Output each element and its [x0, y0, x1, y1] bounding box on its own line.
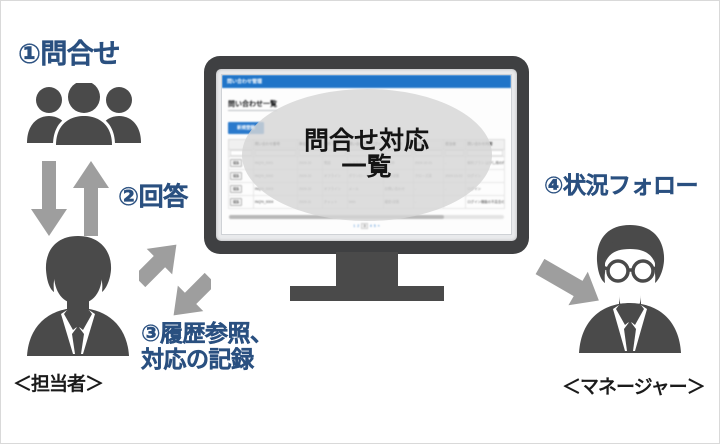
step-label-3: ③履歴参照、 対応の記録	[141, 321, 272, 373]
step-label-1: ①問合せ	[18, 39, 120, 69]
arrow-down-icon	[31, 161, 67, 236]
screen-overlay-ellipse: 問合せ対応 一覧	[242, 89, 492, 221]
monitor-inner-frame: 問い合わせ管理 問い合わせ一覧 新規登録	[216, 69, 517, 241]
step-label-2: ②回答	[118, 183, 188, 211]
monitor-screen: 問い合わせ管理 問い合わせ一覧 新規登録	[221, 74, 512, 235]
app-topbar-title: 問い合わせ管理	[227, 78, 262, 85]
monitor-neck	[336, 252, 398, 289]
row-action-cell[interactable]: 編集	[229, 195, 254, 208]
pagination-next-icon[interactable]: »	[378, 224, 380, 228]
diagram-canvas: ①問合せ ②回答	[0, 0, 720, 444]
arrow-up-icon	[73, 161, 109, 236]
edit-button[interactable]: 編集	[230, 172, 242, 180]
pagination-page[interactable]: 5	[374, 224, 376, 228]
page-title: 問い合わせ一覧	[228, 99, 277, 111]
step-label-4: ④状況フォロー	[544, 173, 698, 199]
row-action-cell[interactable]: 編集	[229, 182, 254, 195]
role-label-manager: ＜マネージャー＞	[562, 372, 705, 399]
edit-button[interactable]: 編集	[230, 185, 242, 193]
arrow-bidirectional-diagonal-icon	[139, 244, 211, 316]
role-staff	[21, 234, 136, 356]
role-manager	[571, 223, 689, 353]
edit-button[interactable]: 編集	[230, 198, 242, 206]
arrow-up	[73, 161, 109, 236]
role-customers	[23, 83, 145, 145]
role-label-staff: ＜担当者＞	[13, 369, 103, 396]
monitor-base	[290, 286, 444, 301]
pagination[interactable]: 1 2 3 4 5 »	[228, 223, 505, 229]
person-suit-icon	[21, 234, 136, 356]
pagination-page[interactable]: 4	[370, 224, 372, 228]
pagination-page[interactable]: 1	[353, 224, 355, 228]
edit-button[interactable]: 編集	[230, 159, 242, 167]
overlay-caption: 問合せ対応 一覧	[304, 129, 429, 181]
arrow-diagonal-pair	[139, 244, 211, 316]
app-topbar: 問い合わせ管理	[222, 75, 511, 88]
monitor-bezel: 問い合わせ管理 問い合わせ一覧 新規登録	[204, 56, 529, 254]
table-cell: ログイン機能の不具合の件	[466, 195, 505, 208]
three-people-icon	[23, 83, 145, 145]
arrow-down	[31, 161, 67, 236]
monitor: 問い合わせ管理 問い合わせ一覧 新規登録	[204, 56, 529, 306]
pagination-page[interactable]: 2	[357, 224, 359, 228]
pagination-current-page[interactable]: 3	[361, 223, 368, 229]
person-glasses-icon	[571, 223, 689, 353]
